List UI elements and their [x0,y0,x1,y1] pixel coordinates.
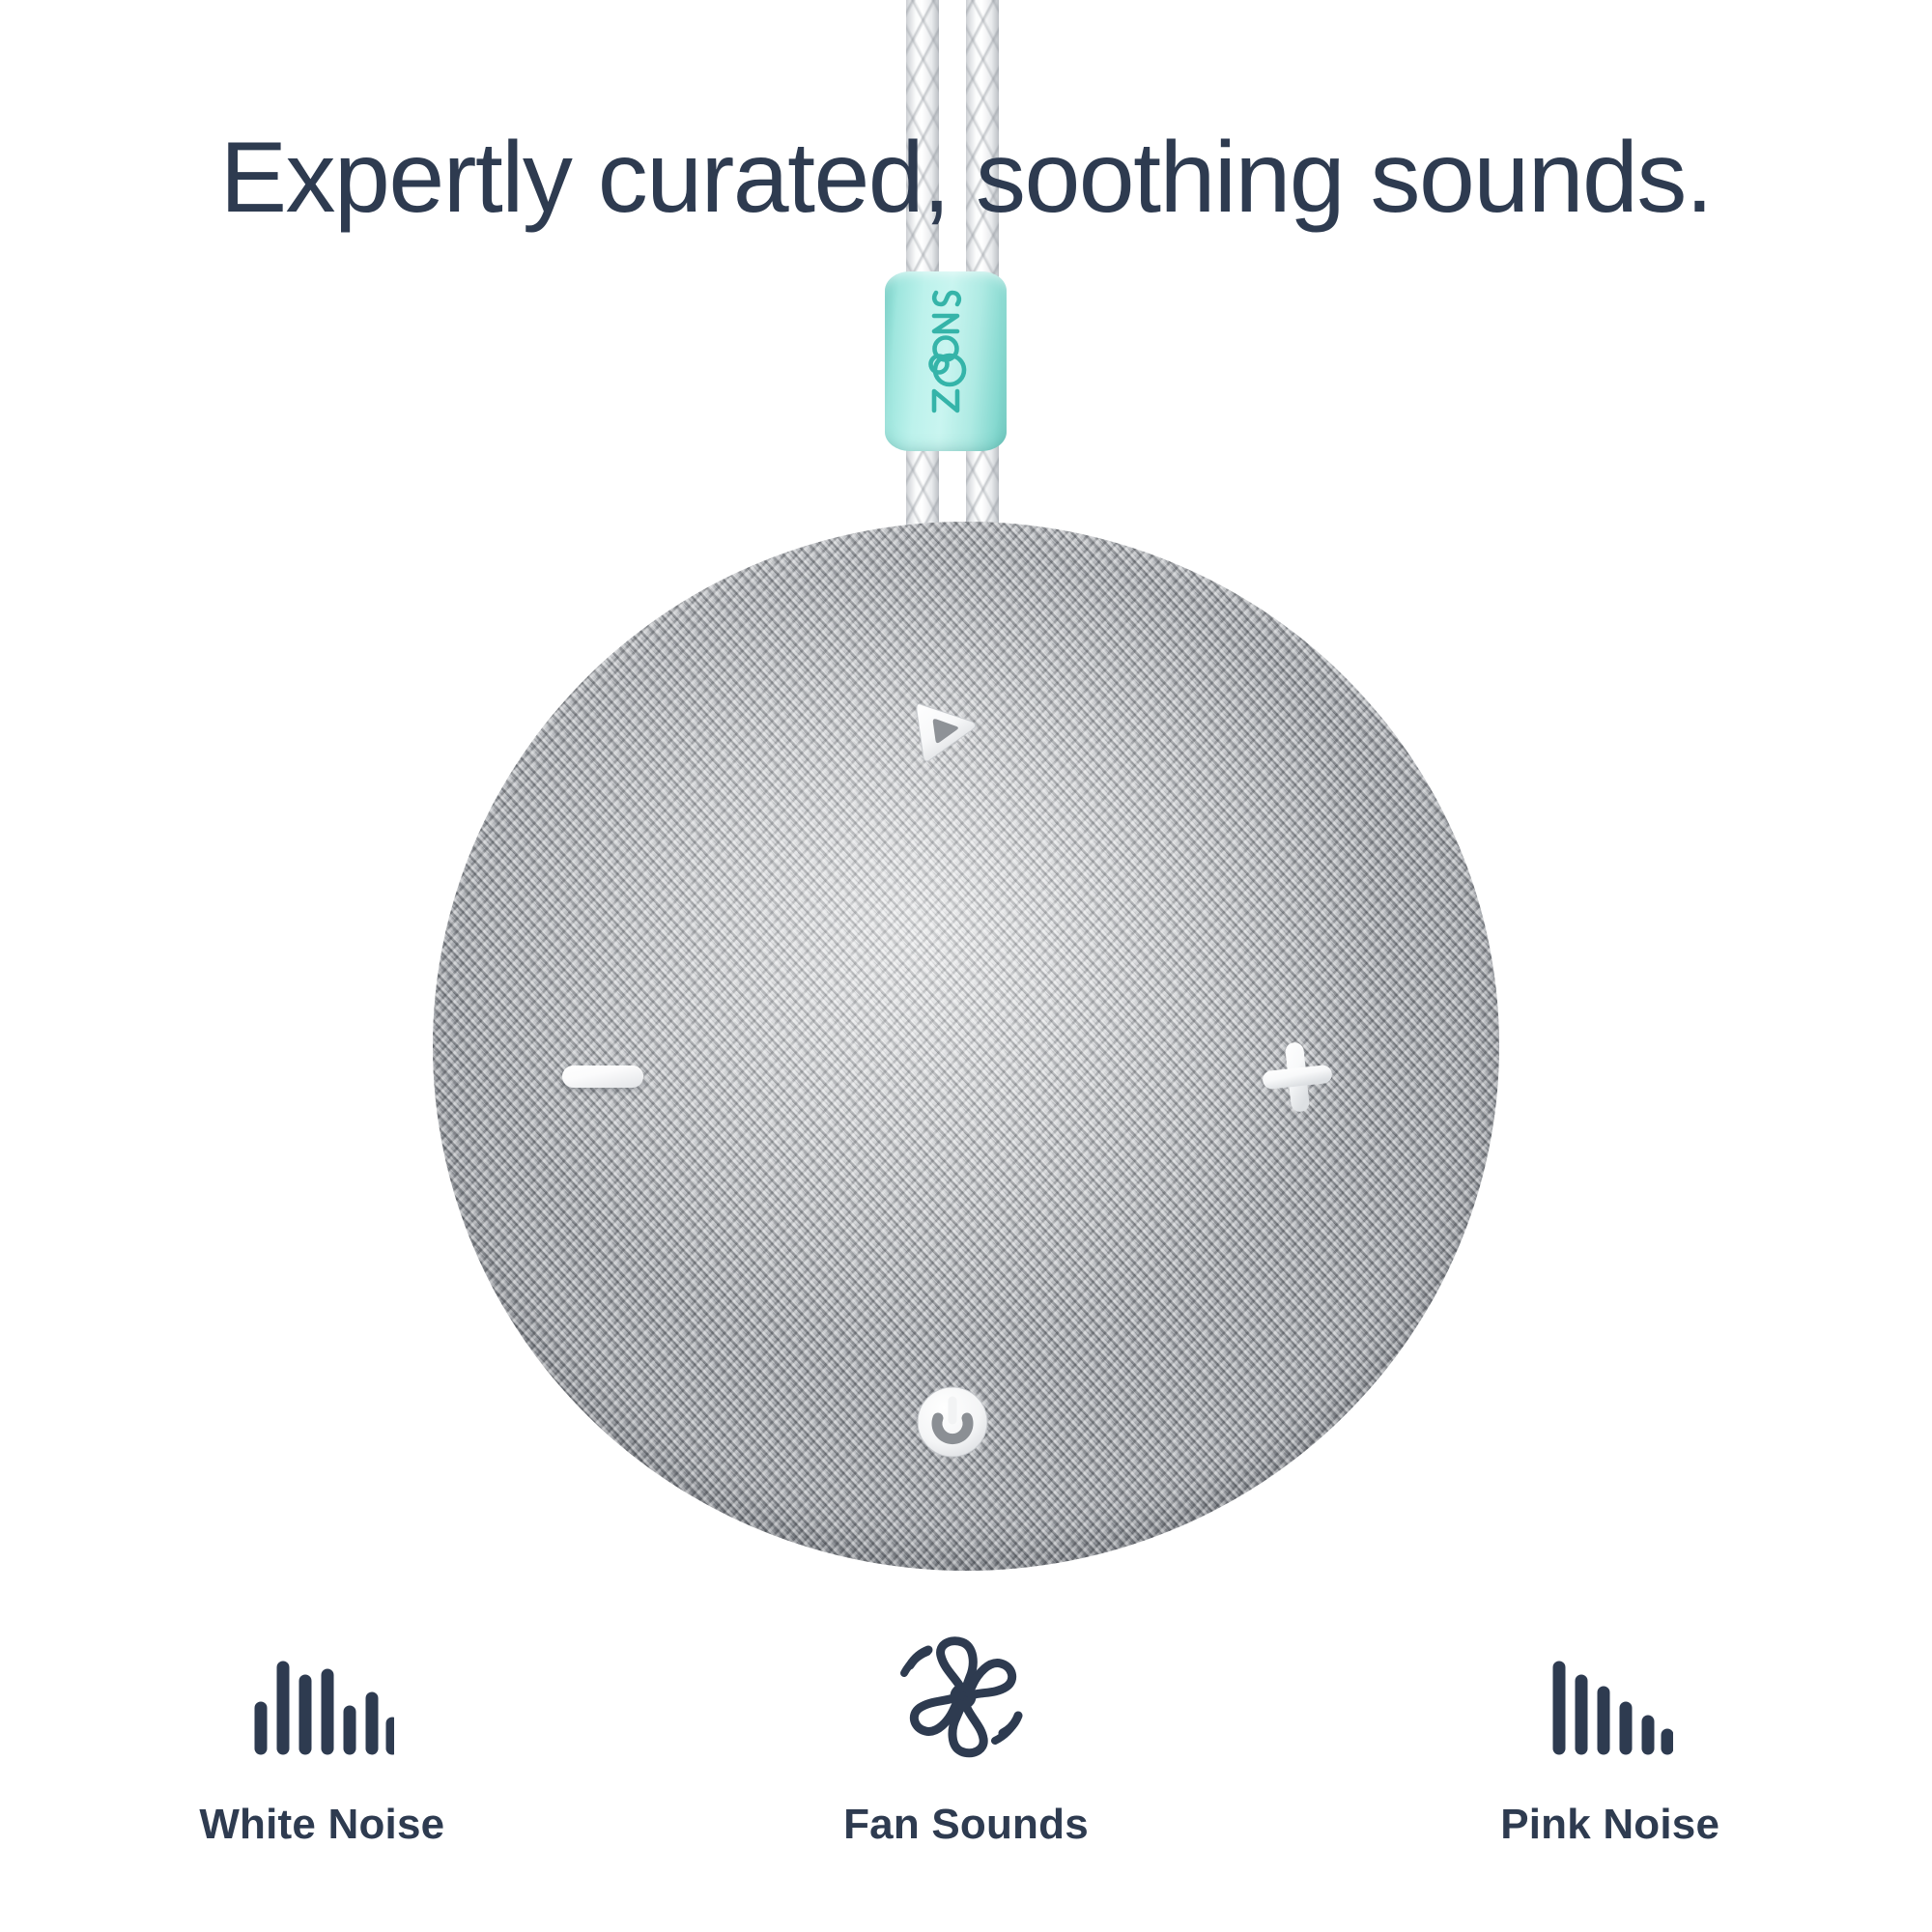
power-icon [916,1385,989,1459]
fan-icon [898,1642,1034,1758]
feature-pink-noise: Pink Noise [1288,1642,1932,1913]
feature-label: White Noise [199,1801,444,1849]
feature-label: Fan Sounds [843,1801,1089,1849]
play-button[interactable] [906,688,989,771]
volume-down-button[interactable] [562,1065,643,1088]
volume-up-button[interactable] [1256,1036,1339,1119]
feature-fan-sounds: Fan Sounds [644,1642,1289,1913]
play-triangle-icon [906,688,989,771]
page-title: Expertly curated, soothing sounds. [0,128,1932,228]
pink-noise-waveform-icon [1548,1642,1673,1758]
plus-icon [1256,1036,1339,1119]
feature-row: White Noise [0,1642,1932,1913]
feature-label: Pink Noise [1500,1801,1719,1849]
power-button[interactable] [916,1385,989,1459]
snooz-logo-icon [917,289,975,434]
white-noise-waveform-icon [249,1642,394,1758]
cord-cinch-snooz [885,271,1007,451]
feature-white-noise: White Noise [0,1642,644,1913]
product-marketing-image: Expertly curated, soothing sounds. [0,0,1932,1932]
